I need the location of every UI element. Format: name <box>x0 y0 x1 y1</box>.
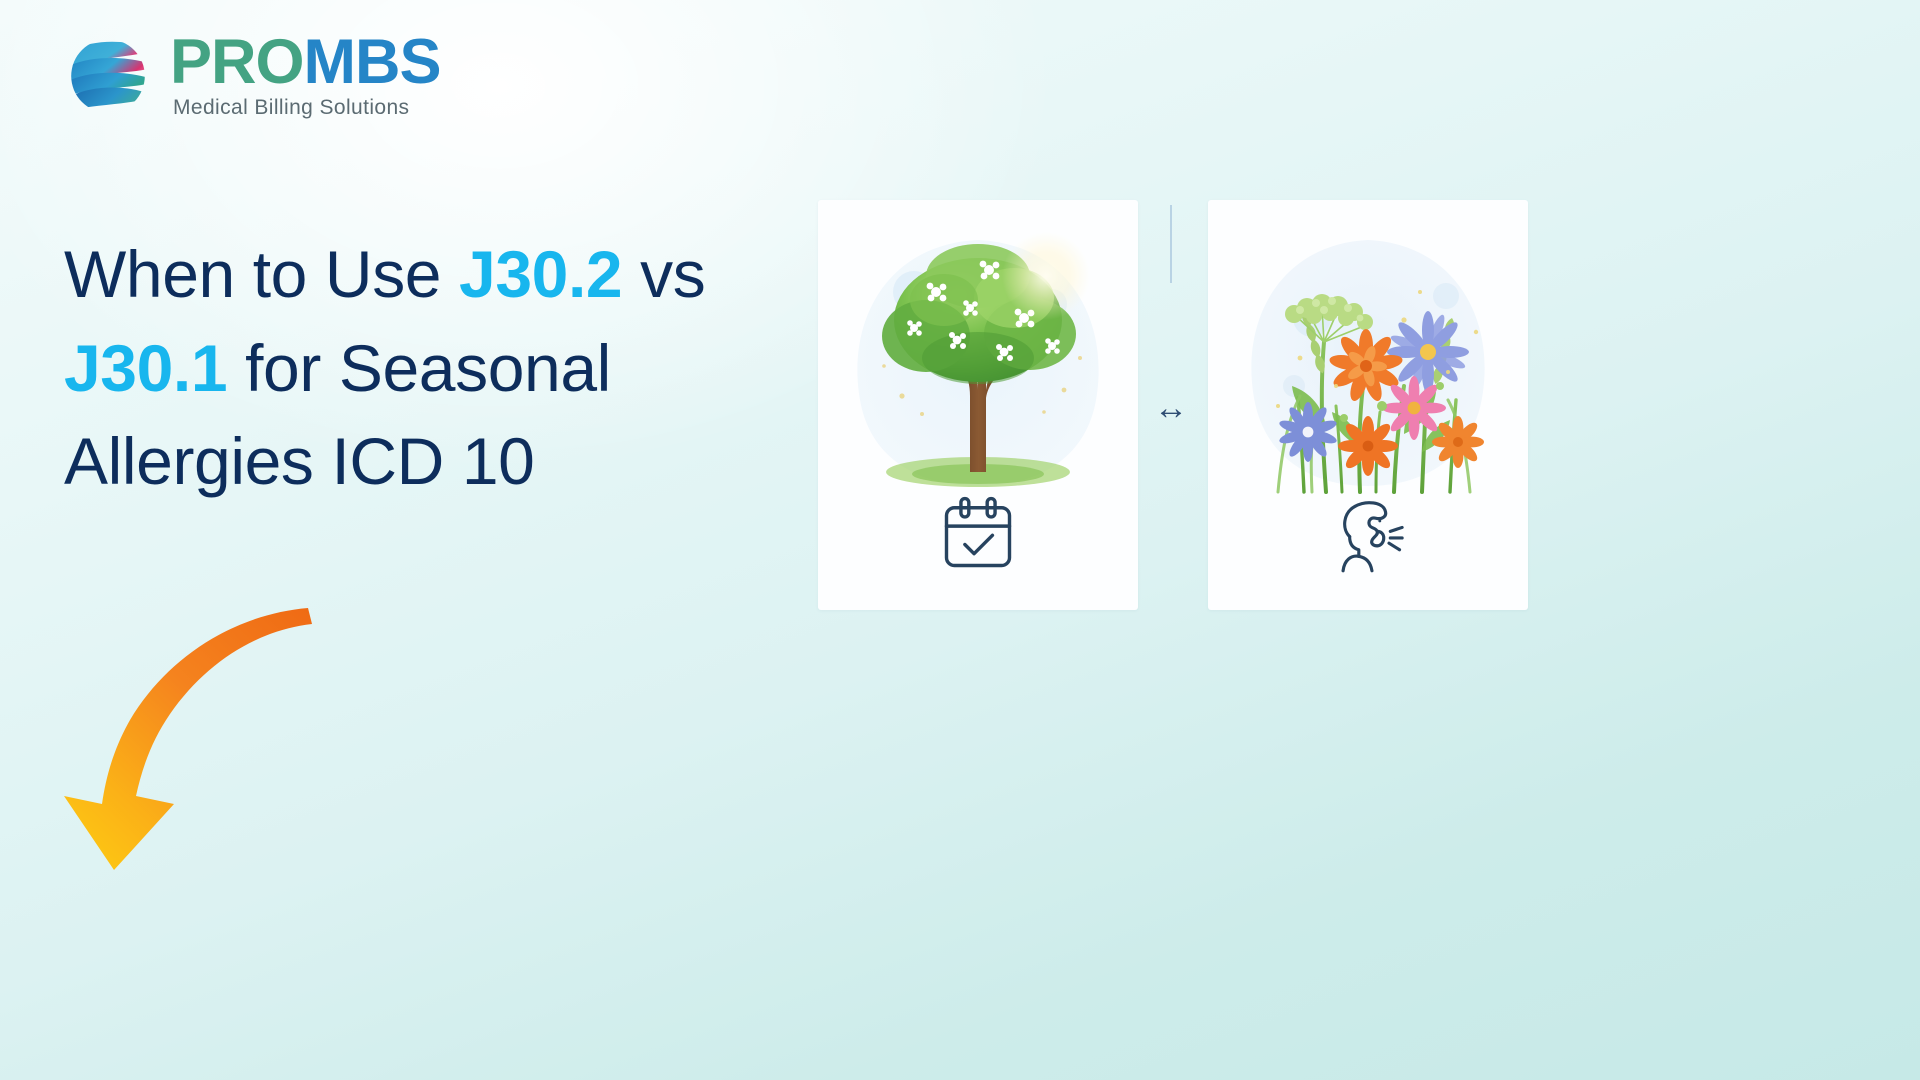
brand-tagline: Medical Billing Solutions <box>173 96 441 120</box>
wildflowers-illustration <box>1208 200 1528 500</box>
sneezing-person-icon <box>1326 492 1410 576</box>
brand-logo[interactable]: PROMBS Medical Billing Solutions <box>62 30 441 122</box>
icd-code-j301: J30.1 <box>64 331 227 405</box>
calendar-check-icon <box>936 492 1020 576</box>
card-seasonal-tree[interactable] <box>818 200 1138 610</box>
brand-name-part2: MBS <box>304 27 441 97</box>
headline-segment-2: vs <box>622 237 705 311</box>
card-divider <box>1170 205 1172 283</box>
page-title: When to Use J30.2 vs J30.1 for Seasonal … <box>64 228 864 509</box>
headline-segment-1: When to Use <box>64 237 459 311</box>
curved-down-left-arrow <box>40 590 360 880</box>
globe-swoosh-logo-icon <box>62 30 154 122</box>
swap-arrows-icon: ↔ <box>1145 382 1197 434</box>
flowering-tree-illustration <box>818 200 1138 500</box>
brand-name-part1: PRO <box>170 27 304 97</box>
brand-wordmark: PROMBS Medical Billing Solutions <box>170 32 441 120</box>
card-pollen-allergy[interactable] <box>1208 200 1528 610</box>
icd-code-j302: J30.2 <box>459 237 622 311</box>
